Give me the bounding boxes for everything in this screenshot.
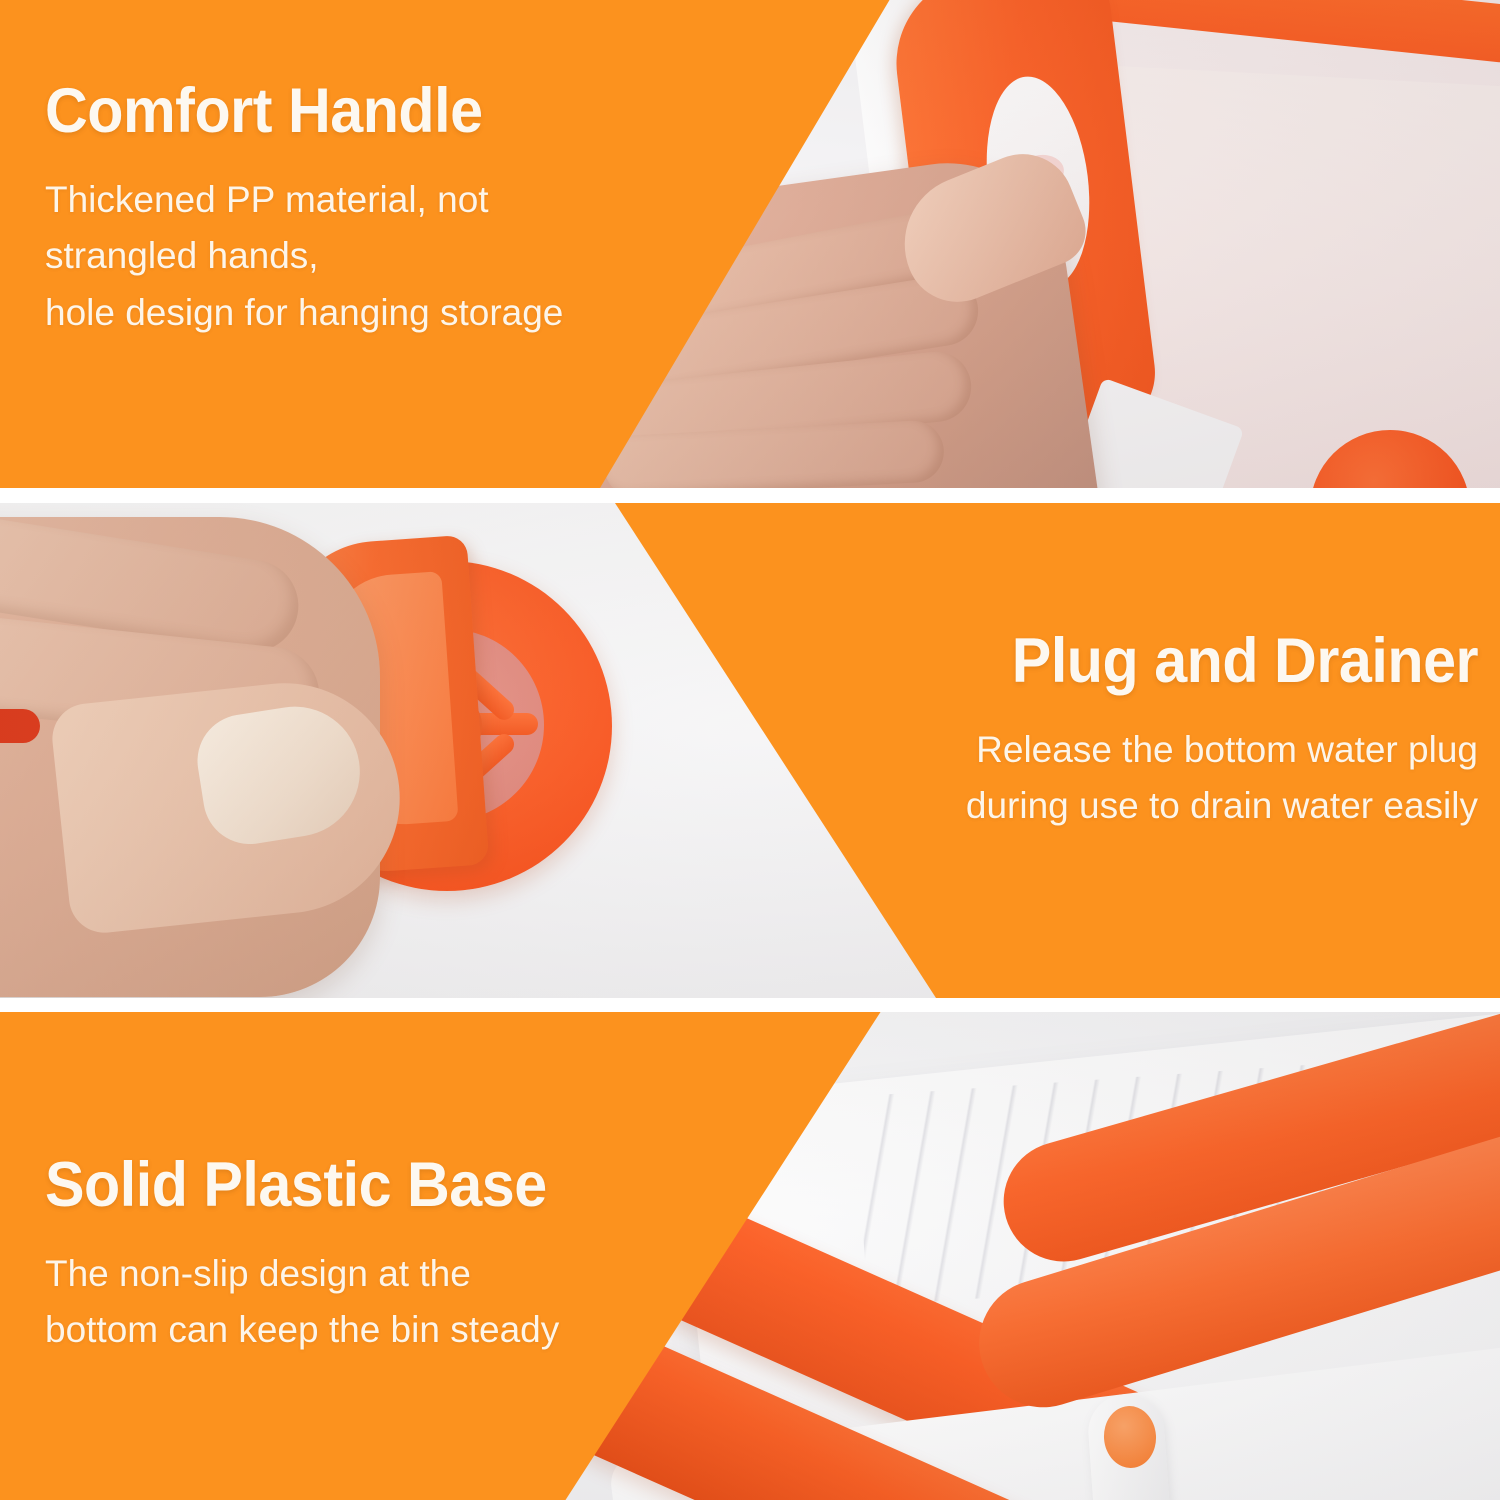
feature-description-line: The non-slip design at the (45, 1246, 579, 1302)
feature-title: Solid Plastic Base (45, 1152, 547, 1218)
feature-description-line: during use to drain water easily (966, 778, 1478, 834)
feature-text-plug-and-drainer: Plug and Drainer Release the bottom wate… (966, 628, 1478, 835)
feature-description-line: strangled hands, (45, 228, 563, 284)
feature-description: Release the bottom water plug during use… (966, 722, 1478, 834)
feature-text-comfort-handle: Comfort Handle Thickened PP material, no… (45, 78, 563, 341)
feature-description-line: Thickened PP material, not (45, 172, 563, 228)
feature-description-line: bottom can keep the bin steady (45, 1302, 579, 1358)
feature-description-line: hole design for hanging storage (45, 285, 563, 341)
feature-title: Plug and Drainer (997, 628, 1478, 694)
feature-description-line: Release the bottom water plug (966, 722, 1478, 778)
background-red-sliver-shape (0, 709, 40, 743)
feature-title: Comfort Handle (45, 78, 532, 144)
feature-text-solid-plastic-base: Solid Plastic Base The non-slip design a… (45, 1152, 579, 1359)
feature-description: Thickened PP material, not strangled han… (45, 172, 563, 341)
feature-description: The non-slip design at the bottom can ke… (45, 1246, 579, 1358)
infographic-page: Comfort Handle Thickened PP material, no… (0, 0, 1500, 1500)
